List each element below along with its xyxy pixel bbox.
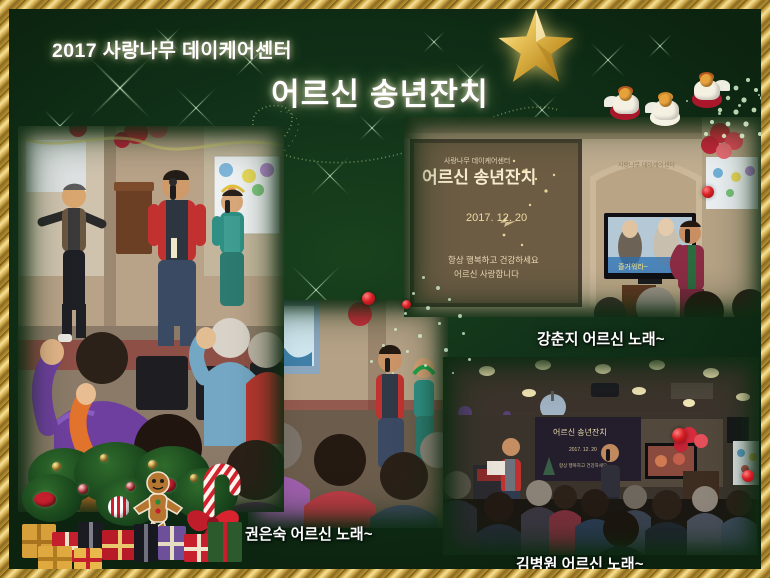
- photo-right: 사랑나무 데이케어센터 어르신 송년잔치 2017. 12. 20 항상 행복하…: [404, 117, 764, 317]
- title-block: 2017 사랑나무 데이케어센터 어르신 송년잔치: [0, 34, 770, 114]
- projected-org: 사랑나무 데이케어센터: [444, 156, 510, 165]
- gift-box: [38, 546, 72, 570]
- projected-title: 어르신 송년잔치: [422, 168, 536, 187]
- photo-bottom-right: 어르신 송년잔치 2017. 12. 20 항상 행복하고 건강하세요: [443, 357, 759, 555]
- caption-kwon: 권은숙 어르신 노래~: [245, 523, 373, 544]
- wall-sign: 사랑나무 데이케어센터: [618, 161, 675, 169]
- red-bauble-icon: [702, 186, 714, 198]
- striped-bauble-icon: [108, 496, 130, 518]
- caption-kang: 강춘지 어르신 노래~: [537, 328, 665, 349]
- red-bauble-icon: [402, 300, 411, 309]
- photo-right-scene: 사랑나무 데이케어센터 어르신 송년잔치 2017. 12. 20 항상 행복하…: [404, 117, 764, 317]
- gift-box: [134, 524, 158, 562]
- caption-kim: 김병원 어르신 노래~: [516, 553, 644, 574]
- page-title: 어르신 송년잔치: [0, 69, 770, 114]
- gift-box: [102, 530, 138, 560]
- red-bauble-icon: [742, 470, 754, 482]
- projected-msg1: 항상 행복하고 건강하세요: [448, 255, 539, 265]
- projected-date: 2017. 12. 20: [466, 212, 527, 224]
- gift-box: [208, 522, 242, 562]
- projected-msg2: 어르신 사랑합니다: [454, 269, 519, 279]
- hall-screen-title: 어르신 송년잔치: [553, 427, 607, 437]
- hall-screen-date: 2017. 12. 20: [569, 447, 597, 453]
- photo-bottom-right-scene: 어르신 송년잔치 2017. 12. 20 항상 행복하고 건강하세요: [443, 357, 759, 555]
- red-bauble-icon: [672, 428, 687, 443]
- slide-subtitle: 2017 사랑나무 데이케어센터: [52, 34, 770, 63]
- christmas-gifts-decoration: [22, 448, 244, 572]
- presentation-slide: 2017 사랑나무 데이케어센터 어르신 송년잔치: [0, 0, 770, 578]
- gift-box: [158, 526, 186, 560]
- svg-text:즐거워라~: 즐거워라~: [618, 262, 648, 271]
- red-bauble-icon: [362, 292, 375, 305]
- hall-screen-msg: 항상 행복하고 건강하세요: [559, 462, 607, 469]
- gift-box: [74, 548, 102, 570]
